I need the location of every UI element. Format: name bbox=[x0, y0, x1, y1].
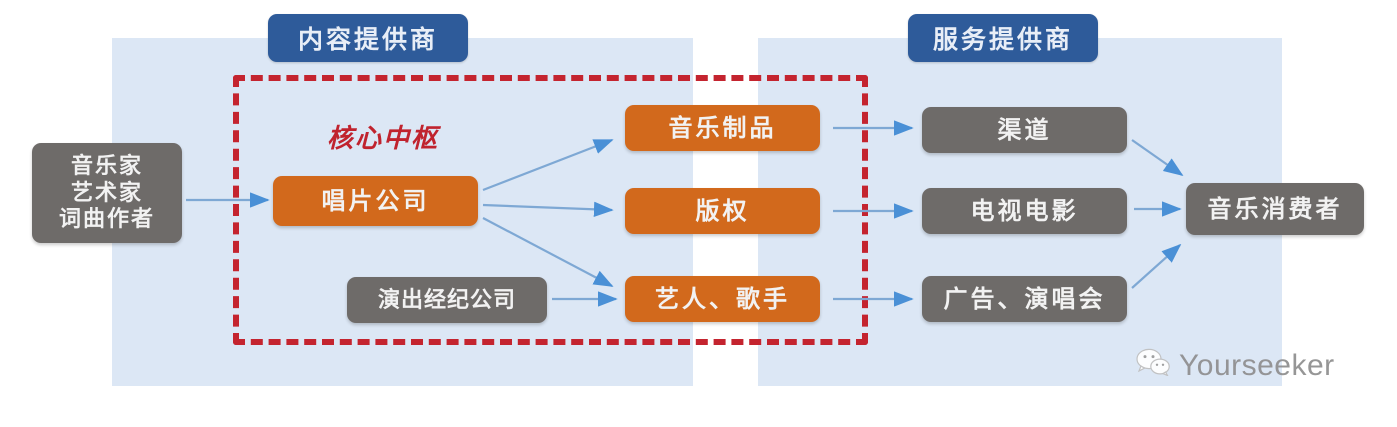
node-record-label-company-label: 唱片公司 bbox=[322, 186, 430, 215]
node-performance-agency-label: 演出经纪公司 bbox=[378, 287, 516, 314]
node-performers-singers: 艺人、歌手 bbox=[625, 276, 820, 322]
watermark: Yourseeker bbox=[1136, 348, 1335, 384]
node-channel-label: 渠道 bbox=[998, 115, 1052, 144]
node-artists: 音乐家 艺术家 词曲作者 bbox=[32, 143, 182, 243]
node-copyright: 版权 bbox=[625, 188, 820, 234]
node-performers-singers-label: 艺人、歌手 bbox=[655, 284, 790, 313]
node-ads-concerts-label: 广告、演唱会 bbox=[944, 284, 1106, 313]
node-tv-film-label: 电视电影 bbox=[971, 196, 1079, 225]
node-record-label-company: 唱片公司 bbox=[273, 176, 478, 226]
node-artists-line-2: 艺术家 bbox=[71, 180, 143, 207]
watermark-text: Yourseeker bbox=[1179, 349, 1335, 383]
node-performance-agency: 演出经纪公司 bbox=[347, 277, 547, 323]
node-music-products-label: 音乐制品 bbox=[669, 113, 777, 142]
node-copyright-label: 版权 bbox=[696, 196, 750, 225]
core-hub-label: 核心中枢 bbox=[327, 118, 439, 155]
diagram-canvas: 内容提供商 服务提供商 核心中枢 音乐家 艺术家 词曲作者 唱片公司 演出经纪公… bbox=[0, 0, 1397, 427]
node-music-consumer: 音乐消费者 bbox=[1186, 183, 1364, 235]
node-artists-line-1: 音乐家 bbox=[71, 153, 143, 180]
node-channel: 渠道 bbox=[922, 107, 1127, 153]
node-music-consumer-label: 音乐消费者 bbox=[1208, 194, 1343, 223]
node-ads-concerts: 广告、演唱会 bbox=[922, 276, 1127, 322]
node-music-products: 音乐制品 bbox=[625, 105, 820, 151]
header-content-provider-label: 内容提供商 bbox=[298, 20, 438, 56]
node-artists-line-3: 词曲作者 bbox=[59, 206, 155, 233]
wechat-icon bbox=[1136, 348, 1170, 384]
header-content-provider: 内容提供商 bbox=[268, 14, 468, 62]
header-service-provider: 服务提供商 bbox=[908, 14, 1098, 62]
header-service-provider-label: 服务提供商 bbox=[933, 20, 1073, 56]
node-tv-film: 电视电影 bbox=[922, 188, 1127, 234]
